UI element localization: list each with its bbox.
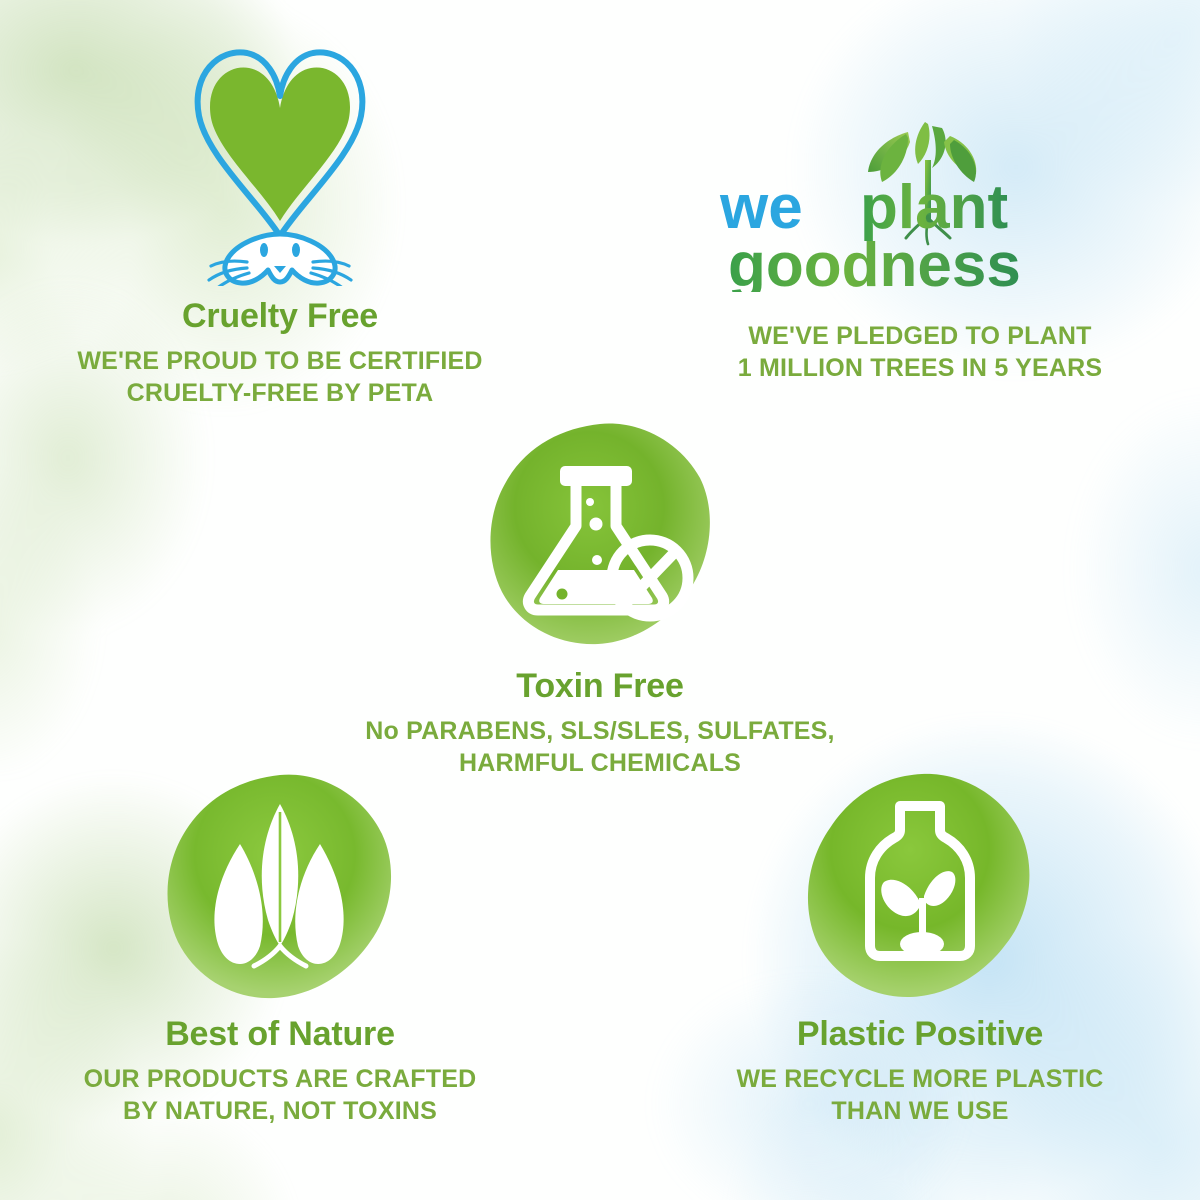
badge-cruelty-free: Cruelty Free WE'RE PROUD TO BE CERTIFIED…: [20, 38, 540, 409]
flask-bubble-3: [592, 555, 602, 565]
badge-description-cruelty-free: WE'RE PROUD TO BE CERTIFIED CRUELTY-FREE…: [20, 345, 540, 409]
flask-bubble-1: [586, 498, 594, 506]
sprout-stem: [919, 898, 926, 938]
three-leaves-icon: [162, 770, 398, 1006]
bunny-eye-right: [292, 243, 300, 257]
badge-title-best-of-nature: Best of Nature: [20, 1016, 540, 1053]
bottle-sprout-icon: [802, 770, 1038, 1006]
best-of-nature-icon-wrap: [20, 770, 540, 1002]
plastic-positive-icon-wrap: [660, 770, 1180, 1002]
bunny-heart-icon: [165, 38, 395, 286]
badge-plastic-positive: Plastic Positive WE RECYCLE MORE PLASTIC…: [660, 770, 1180, 1127]
flask-cap: [560, 466, 632, 486]
badge-title-cruelty-free: Cruelty Free: [20, 298, 540, 335]
bunny-eye-left: [260, 243, 268, 257]
flask-no-toxin-icon: [484, 418, 716, 650]
badge-description-we-plant-goodness: WE'VE PLEDGED TO PLANT 1 MILLION TREES I…: [660, 320, 1180, 384]
logo-word-goodness: goodness: [728, 231, 1021, 292]
brand-values-poster: Cruelty Free WE'RE PROUD TO BE CERTIFIED…: [0, 0, 1200, 1200]
bunny-heart-logo-wrap: [20, 38, 540, 288]
toxin-free-icon-wrap: [330, 418, 870, 650]
sprout-soil: [900, 932, 944, 956]
badge-we-plant-goodness: we plant goodness WE'VE PLEDGED TO PLANT…: [660, 120, 1180, 384]
badge-toxin-free: Toxin Free No PARABENS, SLS/SLES, SULFAT…: [330, 418, 870, 779]
badge-best-of-nature: Best of Nature OUR PRODUCTS ARE CRAFTED …: [20, 770, 540, 1127]
flask-bubble-2: [590, 518, 603, 531]
sprout-logo-icon: we plant goodness: [710, 120, 1130, 292]
badge-title-toxin-free: Toxin Free: [330, 668, 870, 705]
badge-description-best-of-nature: OUR PRODUCTS ARE CRAFTED BY NATURE, NOT …: [20, 1063, 540, 1127]
badge-description-plastic-positive: WE RECYCLE MORE PLASTIC THAN WE USE: [660, 1063, 1180, 1127]
badge-title-plastic-positive: Plastic Positive: [660, 1016, 1180, 1053]
flask-bubble-4: [557, 589, 568, 600]
we-plant-goodness-logo-wrap: we plant goodness: [660, 120, 1180, 290]
